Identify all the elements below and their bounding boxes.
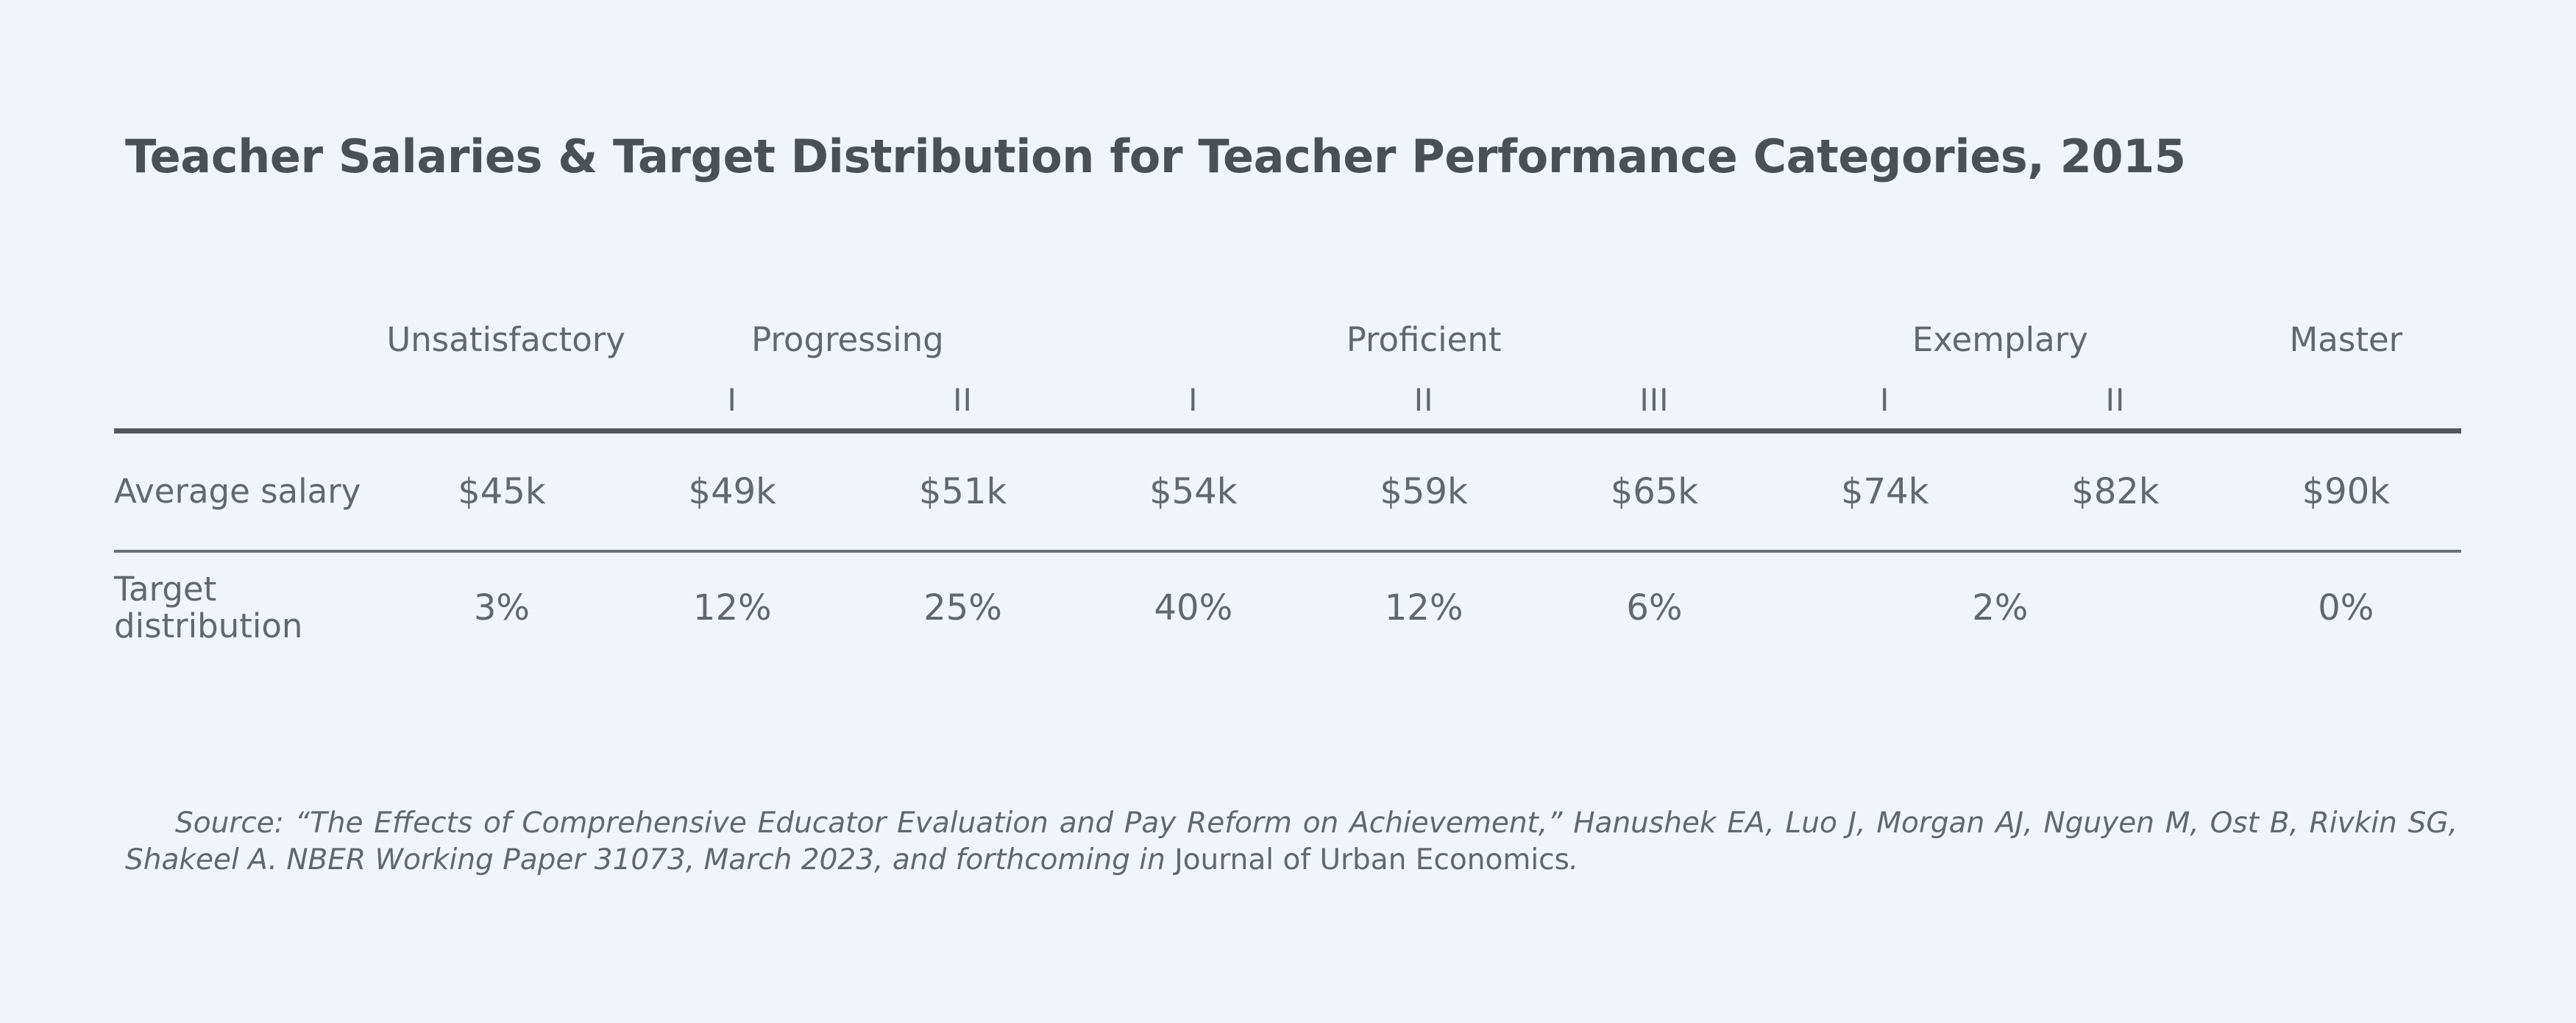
salary-progressing-2: $51k <box>848 431 1078 552</box>
salary-master: $90k <box>2231 431 2461 552</box>
header-level-progressing-1: I <box>617 364 848 431</box>
table-row-average-salary: Average salary $45k $49k $51k $54k $59k … <box>114 431 2461 552</box>
target-proficient-1: 40% <box>1078 551 1308 663</box>
target-master: 0% <box>2231 551 2461 663</box>
source-note-journal: Journal of Urban Economics <box>1174 843 1569 877</box>
figure-canvas: Teacher Salaries & Target Distribution f… <box>0 0 2576 1023</box>
salary-proficient-2: $59k <box>1308 431 1539 552</box>
salary-exemplary-1: $74k <box>1770 431 2000 552</box>
header-category-row: Unsatisfactory Progressing Proficient Ex… <box>114 309 2461 364</box>
source-note-period: . <box>1569 843 1578 877</box>
header-level-row: I II I II III I II <box>114 364 2461 431</box>
target-unsatisfactory: 3% <box>386 551 617 663</box>
source-note: Source: “The Effects of Comprehensive Ed… <box>125 805 2458 879</box>
header-level-proficient-1: I <box>1078 364 1308 431</box>
header-category-unsatisfactory: Unsatisfactory <box>386 309 617 364</box>
salary-unsatisfactory: $45k <box>386 431 617 552</box>
salary-progressing-1: $49k <box>617 431 848 552</box>
target-progressing-2: 25% <box>848 551 1078 663</box>
header-category-proficient: Proficient <box>1078 309 1770 364</box>
figure-title: Teacher Salaries & Target Distribution f… <box>125 130 2186 183</box>
row-label-average-salary: Average salary <box>114 431 386 552</box>
row-label-target-distribution: Target distribution <box>114 551 386 663</box>
header-level-proficient-3: III <box>1539 364 1770 431</box>
salary-exemplary-2: $82k <box>2000 431 2230 552</box>
data-table-container: Unsatisfactory Progressing Proficient Ex… <box>114 309 2461 663</box>
header-level-exemplary-2: II <box>2000 364 2230 431</box>
header-corner-cell <box>114 309 386 364</box>
header-category-exemplary: Exemplary <box>1770 309 2231 364</box>
header-level-master <box>2231 364 2461 431</box>
table-header: Unsatisfactory Progressing Proficient Ex… <box>114 309 2461 431</box>
target-proficient-2: 12% <box>1308 551 1539 663</box>
header-level-corner-cell <box>114 364 386 431</box>
table-row-target-distribution: Target distribution 3% 12% 25% 40% 12% 6… <box>114 551 2461 663</box>
salary-proficient-3: $65k <box>1539 431 1770 552</box>
performance-category-table: Unsatisfactory Progressing Proficient Ex… <box>114 309 2461 663</box>
header-category-master: Master <box>2231 309 2461 364</box>
target-exemplary-combined: 2% <box>1770 551 2231 663</box>
header-level-proficient-2: II <box>1308 364 1539 431</box>
header-category-progressing: Progressing <box>617 309 1079 364</box>
header-level-unsatisfactory <box>386 364 617 431</box>
header-level-exemplary-1: I <box>1770 364 2000 431</box>
header-level-progressing-2: II <box>848 364 1078 431</box>
salary-proficient-1: $54k <box>1078 431 1308 552</box>
table-body: Average salary $45k $49k $51k $54k $59k … <box>114 431 2461 664</box>
target-progressing-1: 12% <box>617 551 848 663</box>
target-proficient-3: 6% <box>1539 551 1770 663</box>
